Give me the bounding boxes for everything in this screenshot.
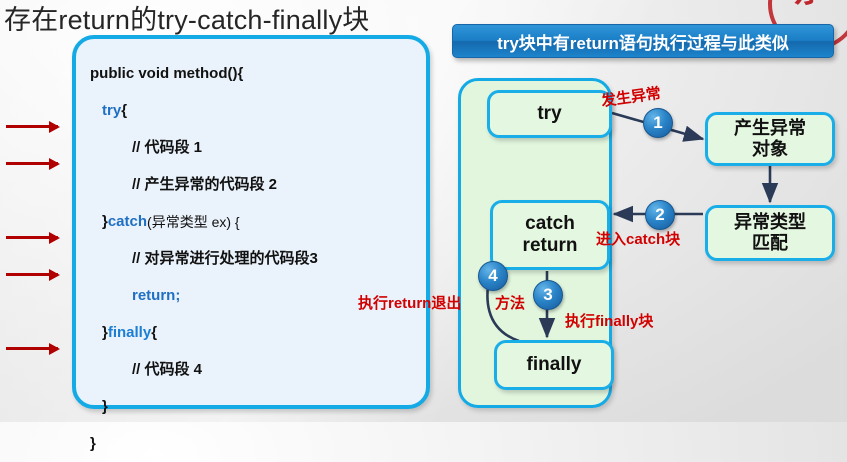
code-pointer-arrow [6,236,58,239]
code-token: // 对异常进行处理的代码段3 [132,251,318,266]
code-card: public void method(){try {// 代码段 1// 产生异… [72,35,430,409]
code-line: } catch (异常类型 ex) { [90,203,418,240]
flow-node-match-label: 异常类型匹配 [734,212,806,253]
flow-node-produce-label: 产生异常对象 [734,118,806,159]
code-token: finally [108,325,151,340]
code-token: try [102,103,121,118]
code-line: // 代码段 1 [90,129,418,166]
code-line: public void method(){ [90,55,418,92]
code-token: (异常类型 ex) { [147,215,240,229]
step-marker-2: 2 [645,200,675,230]
code-token: public void method(){ [90,66,243,81]
page-title: 存在return的try-catch-finally块 [4,0,369,37]
code-line: }finally{ [90,314,418,351]
flow-node-try: try [487,90,612,138]
code-pointer-arrow [6,273,58,276]
flow-node-catch-label: catchreturn [523,213,578,257]
code-token: { [121,103,127,118]
annotation-return-exit: 执行return退出 [358,292,461,313]
step-marker-1: 1 [643,108,673,138]
annotation-method: 方法 [495,292,525,313]
code-token: // 代码段 4 [132,362,202,377]
annotation-exception-occurs: 发生异常 [600,82,662,111]
code-token: { [151,325,157,340]
step-marker-3: 3 [533,280,563,310]
code-token: } [90,436,96,451]
code-token: } [102,399,108,414]
flow-node-finally: finally [494,340,614,390]
code-line: } [90,425,418,462]
flow-node-type-match: 异常类型匹配 [705,205,835,261]
code-token: catch [108,214,147,229]
section-banner: try块中有return语句执行过程与此类似 [452,24,834,58]
flow-node-produce-exception: 产生异常对象 [705,112,835,166]
code-token: // 代码段 1 [132,140,202,155]
step-marker-4: 4 [478,261,508,291]
code-token: // 产生异常的代码段 2 [132,177,277,192]
code-pointer-arrow [6,125,58,128]
code-line: try { [90,92,418,129]
code-pointer-arrow [6,347,58,350]
code-token: return; [132,288,180,303]
flow-node-catch-return: catchreturn [490,200,610,270]
code-line: // 代码段 4 [90,351,418,388]
code-line: // 产生异常的代码段 2 [90,166,418,203]
code-line: // 对异常进行处理的代码段3 [90,240,418,277]
annotation-run-finally: 执行finally块 [565,310,653,331]
code-line: } [90,388,418,425]
annotation-enter-catch: 进入catch块 [596,228,680,249]
code-listing: public void method(){try {// 代码段 1// 产生异… [90,55,418,462]
code-pointer-arrow [6,162,58,165]
